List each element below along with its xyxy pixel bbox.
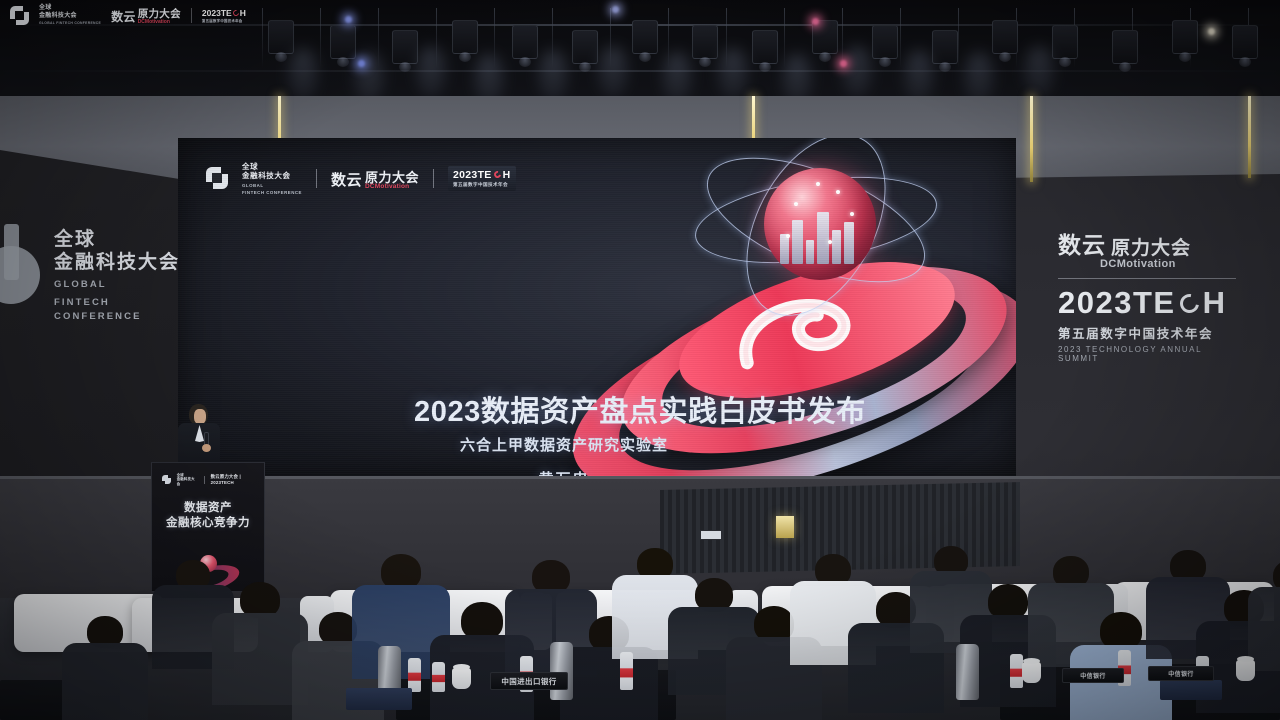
nameplate: 中信银行 xyxy=(1062,668,1124,683)
overlay-fintech-en: GLOBAL FINTECH CONFERENCE xyxy=(39,21,101,25)
stage-light xyxy=(268,20,294,54)
truss-vertical xyxy=(900,8,901,68)
right-sign-shuyun: 数云 xyxy=(1058,226,1106,260)
swirl-icon xyxy=(1177,291,1202,316)
fintech-mark-icon xyxy=(206,167,228,189)
thermos-flask xyxy=(956,644,979,700)
stage-light xyxy=(992,20,1018,54)
presenter-at-podium xyxy=(178,404,220,466)
light-beam xyxy=(902,50,936,102)
light-lens xyxy=(1208,28,1215,35)
screen-badge-year: 2023 xyxy=(453,169,478,181)
glossy-sphere-icon xyxy=(764,168,876,280)
sign-divider xyxy=(1058,278,1236,279)
audience-body xyxy=(62,643,148,720)
overlay-shuyun: 数云 xyxy=(111,8,136,25)
light-beam xyxy=(536,50,570,102)
broadcast-logo-overlay: 全球 金融科技大会 GLOBAL FINTECH CONFERENCE 数云 原… xyxy=(0,0,248,30)
swirl-icon xyxy=(232,9,240,17)
screen-title: 2023数据资产盘点实践白皮书发布 xyxy=(414,388,866,430)
light-lens xyxy=(840,60,847,67)
water-bottle xyxy=(620,652,633,690)
stage-light xyxy=(330,25,356,59)
stage-light xyxy=(512,25,538,59)
overlay-badge-sub: 第五届数字中国技术年会 xyxy=(202,18,246,23)
truss-vertical xyxy=(958,8,959,68)
right-sign-tech-head: TE xyxy=(1133,285,1176,321)
truss-vertical xyxy=(320,8,321,68)
notebook xyxy=(346,688,412,710)
podium-title-line1: 数据资产 xyxy=(152,501,264,516)
fintech-mark-icon xyxy=(162,475,171,484)
right-sign-year: 2023 xyxy=(1058,285,1133,321)
right-sign-yuanli: 原力大会 xyxy=(1111,233,1191,260)
logo-divider xyxy=(316,169,317,188)
screen-logo-row: 全球 金融科技大会 GLOBAL FINTECH CONFERENCE 数云 原… xyxy=(206,162,516,195)
stage-light xyxy=(1052,25,1078,59)
right-sign-tech-lockup: 2023 TE H xyxy=(1058,285,1236,321)
screen-fintech-cn-l2: 金融科技大会 xyxy=(242,171,302,180)
stage-light xyxy=(632,20,658,54)
nameplate: 中国进出口银行 xyxy=(490,672,568,690)
light-beam xyxy=(1022,46,1056,98)
notebook xyxy=(1160,680,1222,700)
swirl-icon xyxy=(493,170,502,179)
stage-light xyxy=(572,30,598,64)
logo-divider xyxy=(204,476,205,484)
light-beam xyxy=(840,46,874,98)
overlay-tech-tail: H xyxy=(240,8,246,18)
overlay-tech-head: TE xyxy=(221,8,232,18)
nameplate-label: 中国进出口银行 xyxy=(501,676,556,687)
thermos-flask xyxy=(550,642,573,700)
screen-tech-badge: 2023 TE H 第五届数字中国技术年会 xyxy=(448,166,515,191)
light-lens xyxy=(612,6,619,13)
truss-beam xyxy=(0,70,1280,72)
stage-light xyxy=(1172,20,1198,54)
nameplate: 中信银行 xyxy=(1148,666,1214,681)
left-sign-cn-line2: 金融科技大会 xyxy=(54,251,180,274)
fintech-logo-icon xyxy=(0,224,46,310)
conference-hall-scene: 全球 金融科技大会 GLOBAL FINTECH CONFERENCE 数云 原… xyxy=(0,0,1280,720)
screen-fintech-en-l2: FINTECH CONFERENCE xyxy=(242,190,302,195)
screen-badge-sub: 第五届数字中国技术年会 xyxy=(453,182,510,188)
wall-light-strip xyxy=(1030,96,1033,182)
nameplate-label: 中信银行 xyxy=(1168,669,1194,678)
light-beam xyxy=(414,46,448,98)
left-sign-cn-line1: 全球 xyxy=(54,228,180,251)
main-led-presentation-screen: 全球 金融科技大会 GLOBAL FINTECH CONFERENCE 数云 原… xyxy=(178,138,1016,476)
light-beam xyxy=(596,46,630,98)
light-lens xyxy=(812,18,819,25)
stage-light xyxy=(692,25,718,59)
stage-light xyxy=(452,20,478,54)
light-lens xyxy=(358,60,365,67)
screen-fintech-cn-l1: 全球 xyxy=(242,162,302,171)
right-sign-en-sub: 2023 TECHNOLOGY ANNUAL SUMMIT xyxy=(1058,345,1236,363)
truss-vertical xyxy=(262,8,263,68)
screen-subtitle-block: 六合上甲数据资产研究实验室 黄万忠 2023年5月 xyxy=(414,434,714,476)
podium-logo-row: 全球 金融科技大会 数云原力大会 | 2023TECH xyxy=(162,473,264,486)
overlay-year: 2023 xyxy=(202,8,221,18)
right-wall-signage: 数云 原力大会 DCMotivation 2023 TE H 第五届数字中国技术… xyxy=(1058,226,1236,363)
screen-badge-tech-head: TE xyxy=(478,169,492,181)
screen-fintech-en-l1: GLOBAL xyxy=(242,183,302,188)
left-sign-en-line1: GLOBAL xyxy=(54,278,180,292)
stage-light xyxy=(932,30,958,64)
water-bottle xyxy=(432,662,445,692)
left-sign-en-line2: FINTECH CONFERENCE xyxy=(54,296,180,324)
podium-logo-right: 数云原力大会 | 2023TECH xyxy=(211,474,264,485)
left-wall-signage: 全球 金融科技大会 GLOBAL FINTECH CONFERENCE xyxy=(10,228,180,324)
teacup xyxy=(1236,660,1255,681)
screen-title-block: 2023数据资产盘点实践白皮书发布 xyxy=(414,388,866,430)
stage-light xyxy=(752,30,778,64)
right-sign-tech-tail: H xyxy=(1203,285,1227,321)
logo-divider xyxy=(433,169,434,188)
audience-area: 中国进出口银行 中信银行 中信银行 xyxy=(0,520,1280,720)
stage-light xyxy=(1112,30,1138,64)
truss-vertical xyxy=(784,8,785,68)
teacup xyxy=(1022,662,1041,683)
stage-light xyxy=(1232,25,1258,59)
water-bottle xyxy=(408,658,421,692)
stage-light xyxy=(872,25,898,59)
overlay-tech-badge: 2023 TE H 第五届数字中国技术年会 xyxy=(202,8,246,23)
screen-subtitle: 六合上甲数据资产研究实验室 xyxy=(414,434,714,455)
screen-shuyun: 数云 xyxy=(331,169,362,190)
fintech-mark-icon xyxy=(10,6,29,25)
right-sign-dcmotivation: DCMotivation xyxy=(1100,258,1236,270)
screen-badge-tech-tail: H xyxy=(503,169,511,181)
right-sign-cn-sub: 第五届数字中国技术年会 xyxy=(1058,323,1236,342)
light-beam xyxy=(286,48,320,100)
logo-divider xyxy=(191,8,192,23)
overlay-fintech-cn-l1: 全球 xyxy=(39,5,101,13)
light-beam xyxy=(716,48,750,100)
wall-light-strip xyxy=(1248,96,1251,178)
stage-light xyxy=(812,20,838,54)
light-lens xyxy=(345,16,352,23)
teacup xyxy=(452,668,471,689)
stage-light xyxy=(392,30,418,64)
podium-logo-cn-l2: 金融科技大会 xyxy=(177,477,198,486)
audience-member xyxy=(62,616,148,720)
overlay-fintech-cn-l2: 金融科技大会 xyxy=(39,13,101,21)
nameplate-label: 中信银行 xyxy=(1080,671,1106,680)
